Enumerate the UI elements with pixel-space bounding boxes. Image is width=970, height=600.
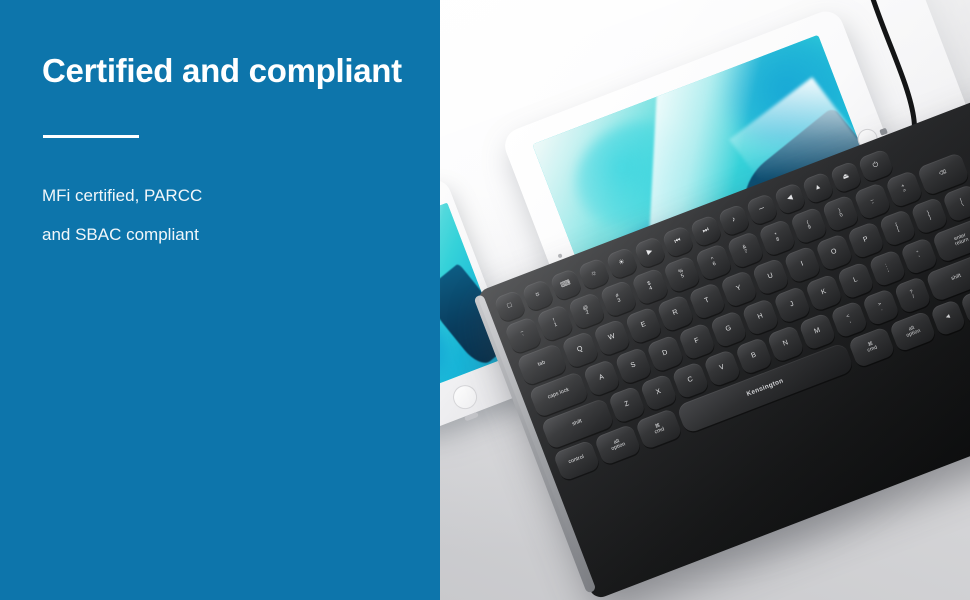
body-copy: MFi certified, PARCC and SBAC compliant: [42, 176, 412, 254]
keyboard-key[interactable]: ─: [745, 193, 779, 227]
keyboard-key[interactable]: ! 1: [536, 304, 575, 343]
title-divider: [43, 135, 139, 138]
keyboard-key[interactable]: ~ `: [504, 316, 543, 355]
keyboard-key[interactable]: Q: [561, 331, 600, 370]
keyboard-key[interactable]: { [: [878, 209, 917, 248]
keyboard-key[interactable]: ? /: [893, 276, 932, 315]
keyboard-key[interactable]: ( 9: [790, 206, 829, 245]
keyboard-key[interactable]: N: [766, 324, 805, 363]
iphone-home-button: [450, 382, 481, 413]
keyboard-key[interactable]: ⏮: [661, 225, 695, 259]
keyboard-key[interactable]: U: [751, 257, 790, 296]
keyboard-key[interactable]: > .: [862, 288, 901, 327]
keyboard-key[interactable]: ) 0: [821, 194, 860, 233]
keyboard-key[interactable]: ☀: [605, 246, 639, 280]
keyboard-key[interactable]: ⌗: [521, 279, 555, 313]
keyboard-key[interactable]: ♪: [717, 203, 751, 237]
keyboard-key[interactable]: ⌨: [549, 268, 583, 302]
keyboard-key[interactable]: F: [678, 322, 717, 361]
promo-banner: Certified and compliant MFi certified, P…: [0, 0, 970, 600]
keyboard-key[interactable]: ⏭: [689, 214, 723, 248]
left-text-panel: Certified and compliant MFi certified, P…: [0, 0, 440, 600]
keyboard-key[interactable]: Y: [720, 270, 759, 309]
keyboard-key[interactable]: & 7: [726, 231, 765, 270]
keyboard-key[interactable]: : ;: [868, 249, 907, 288]
body-copy-line-1: MFi certified, PARCC: [42, 176, 412, 215]
keyboard-key[interactable]: K: [805, 273, 844, 312]
keyboard-key[interactable]: L: [836, 261, 875, 300]
keyboard-key[interactable]: _ -: [853, 182, 892, 221]
keyboard-key[interactable]: T: [688, 282, 727, 321]
keyboard-key[interactable]: H: [741, 298, 780, 337]
keyboard-key[interactable]: W: [593, 318, 632, 357]
keyboard-key[interactable]: * 8: [758, 218, 797, 257]
keyboard-key[interactable]: B: [735, 337, 774, 376]
keyboard-key[interactable]: ⌘ cmd: [635, 408, 683, 450]
keyboard-key[interactable]: ◀: [930, 299, 967, 337]
keyboard-key[interactable]: alt option: [889, 310, 937, 352]
keyboard-key[interactable]: } ]: [910, 196, 949, 235]
keyboard-key[interactable]: X: [639, 373, 678, 412]
keyboard-key[interactable]: % 5: [663, 255, 702, 294]
keyboard-key[interactable]: □: [493, 289, 527, 323]
keyboard-key[interactable]: M: [798, 312, 837, 351]
keyboard-key[interactable]: ⏻: [857, 148, 894, 183]
keyboard-key[interactable]: G: [709, 310, 748, 349]
keyboard-key[interactable]: V: [703, 349, 742, 388]
product-photo: □⌗⌨☼☀▶⏮⏭♪─◀▲⏏⏻~ `! 1@ 2# 3$ 4% 5^ 6& 7* …: [440, 0, 970, 600]
keyboard-key[interactable]: ☼: [577, 257, 611, 291]
keyboard-key[interactable]: + =: [885, 170, 924, 209]
keyboard-key[interactable]: @ 2: [567, 292, 606, 331]
keyboard-key[interactable]: ▶: [633, 236, 667, 270]
keyboard-key[interactable]: O: [815, 233, 854, 272]
page-title: Certified and compliant: [42, 52, 427, 90]
keyboard-key[interactable]: # 3: [599, 279, 638, 318]
keyboard-key[interactable]: $ 4: [631, 267, 670, 306]
keyboard-key[interactable]: ▲: [801, 171, 835, 205]
keyboard-key[interactable]: S: [614, 346, 653, 385]
keyboard-key[interactable]: R: [656, 294, 695, 333]
keyboard-key[interactable]: " ': [900, 237, 939, 276]
keyboard-key[interactable]: Z: [608, 385, 647, 424]
keyboard-key[interactable]: ◀: [773, 182, 807, 216]
keyboard-key[interactable]: A: [582, 359, 621, 398]
keyboard-key[interactable]: E: [624, 306, 663, 345]
ipad-front-camera: [558, 253, 563, 258]
keyboard-key[interactable]: D: [646, 334, 685, 373]
body-copy-line-2: and SBAC compliant: [42, 215, 412, 254]
keyboard-key[interactable]: ^ 6: [694, 243, 733, 282]
keyboard-key[interactable]: < ,: [830, 300, 869, 339]
keyboard-key[interactable]: J: [773, 286, 812, 325]
keyboard-key[interactable]: ⏏: [829, 160, 863, 194]
keyboard-key[interactable]: C: [671, 361, 710, 400]
keyboard-key[interactable]: I: [783, 245, 822, 284]
keyboard-key[interactable]: P: [847, 221, 886, 260]
